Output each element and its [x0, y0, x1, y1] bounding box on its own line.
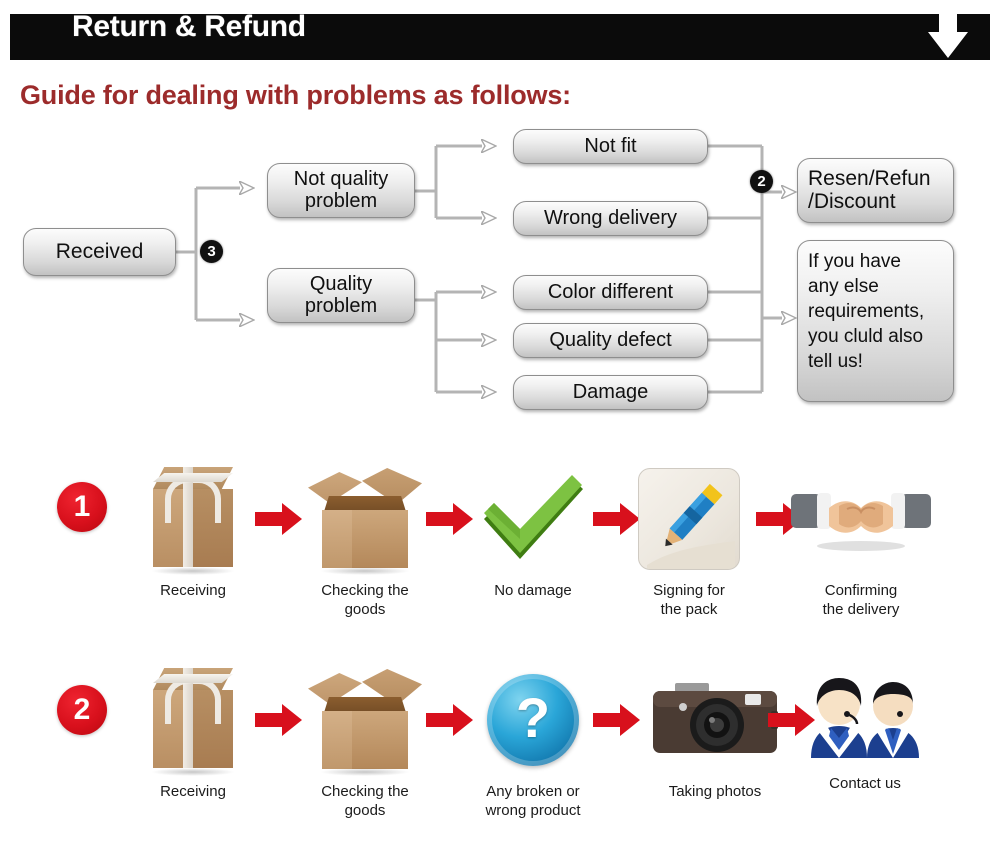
badge-step-two: 2 [750, 170, 773, 193]
node-wrong-delivery-label: Wrong delivery [544, 208, 677, 230]
step-any-broken-wrong[interactable]: ? Any broken or wrong product [458, 661, 608, 821]
step-taking-photos-label: Taking photos [669, 783, 762, 802]
step-no-damage[interactable]: No damage [458, 460, 608, 601]
open-box-icon [290, 661, 440, 779]
pencil-icon [614, 460, 764, 578]
step-signing-pack-label: Signing for the pack [653, 582, 725, 620]
step-receiving-1-label: Receiving [160, 582, 226, 601]
green-checkmark-icon [458, 460, 608, 578]
process-row-2-number-label: 2 [74, 695, 91, 725]
step-checking-goods-2-label: Checking the goods [321, 783, 409, 821]
page-subtitle: Guide for dealing with problems as follo… [20, 80, 571, 111]
step-contact-us[interactable]: Contact us [790, 653, 940, 794]
problem-flowchart: Received 3 Not quality problem Quality p… [0, 130, 1000, 430]
process-row-2-number: 2 [57, 685, 107, 735]
node-quality-defect[interactable]: Quality defect [513, 323, 708, 358]
step-checking-goods-1[interactable]: Checking the goods [290, 460, 440, 620]
node-not-quality-problem-label: Not quality problem [294, 169, 389, 212]
badge-step-three-label: 3 [207, 244, 215, 259]
node-any-else-requirements[interactable]: If you have any else requirements, you c… [797, 240, 954, 402]
node-resend-refund-discount[interactable]: Resen/Refun /Discount [797, 158, 954, 223]
step-receiving-1[interactable]: Receiving [118, 460, 268, 601]
handshake-icon [786, 460, 936, 578]
process-row-1-number-label: 1 [74, 492, 91, 522]
sealed-box-icon [118, 661, 268, 779]
node-not-fit-label: Not fit [584, 136, 636, 158]
node-damage[interactable]: Damage [513, 375, 708, 410]
down-arrow-icon [926, 2, 970, 60]
page-title: Return & Refund [72, 12, 306, 42]
badge-step-two-label: 2 [757, 174, 765, 189]
badge-step-three: 3 [200, 240, 223, 263]
red-right-arrow-icon [593, 703, 641, 737]
step-receiving-2-label: Receiving [160, 783, 226, 802]
step-confirming-delivery-label: Confirming the delivery [823, 582, 900, 620]
node-not-quality-problem[interactable]: Not quality problem [267, 163, 415, 218]
step-no-damage-label: No damage [494, 582, 572, 601]
node-not-fit[interactable]: Not fit [513, 129, 708, 164]
step-contact-us-label: Contact us [829, 775, 901, 794]
step-checking-goods-1-label: Checking the goods [321, 582, 409, 620]
node-any-else-requirements-label: If you have any else requirements, you c… [808, 249, 924, 374]
process-row-1: 1 Receiving Checking the goods [0, 460, 1000, 645]
node-wrong-delivery[interactable]: Wrong delivery [513, 201, 708, 236]
step-receiving-2[interactable]: Receiving [118, 661, 268, 802]
sealed-box-icon [118, 460, 268, 578]
node-quality-defect-label: Quality defect [549, 330, 671, 352]
node-damage-label: Damage [573, 382, 649, 404]
step-any-broken-wrong-label: Any broken or wrong product [485, 783, 580, 821]
node-color-different[interactable]: Color different [513, 275, 708, 310]
node-quality-problem-label: Quality problem [305, 274, 377, 317]
node-received-label: Received [56, 241, 144, 264]
node-quality-problem[interactable]: Quality problem [267, 268, 415, 323]
node-resend-refund-discount-label: Resen/Refun /Discount [808, 168, 931, 213]
step-confirming-delivery[interactable]: Confirming the delivery [786, 460, 936, 620]
step-signing-pack[interactable]: Signing for the pack [614, 460, 764, 620]
process-row-1-number: 1 [57, 482, 107, 532]
node-received[interactable]: Received [23, 228, 176, 276]
support-people-icon [790, 653, 940, 771]
open-box-icon [290, 460, 440, 578]
node-color-different-label: Color different [548, 282, 673, 304]
question-mark-icon: ? [458, 661, 608, 779]
step-checking-goods-2[interactable]: Checking the goods [290, 661, 440, 821]
process-row-2: 2 Receiving Checking the goods ? [0, 645, 1000, 830]
